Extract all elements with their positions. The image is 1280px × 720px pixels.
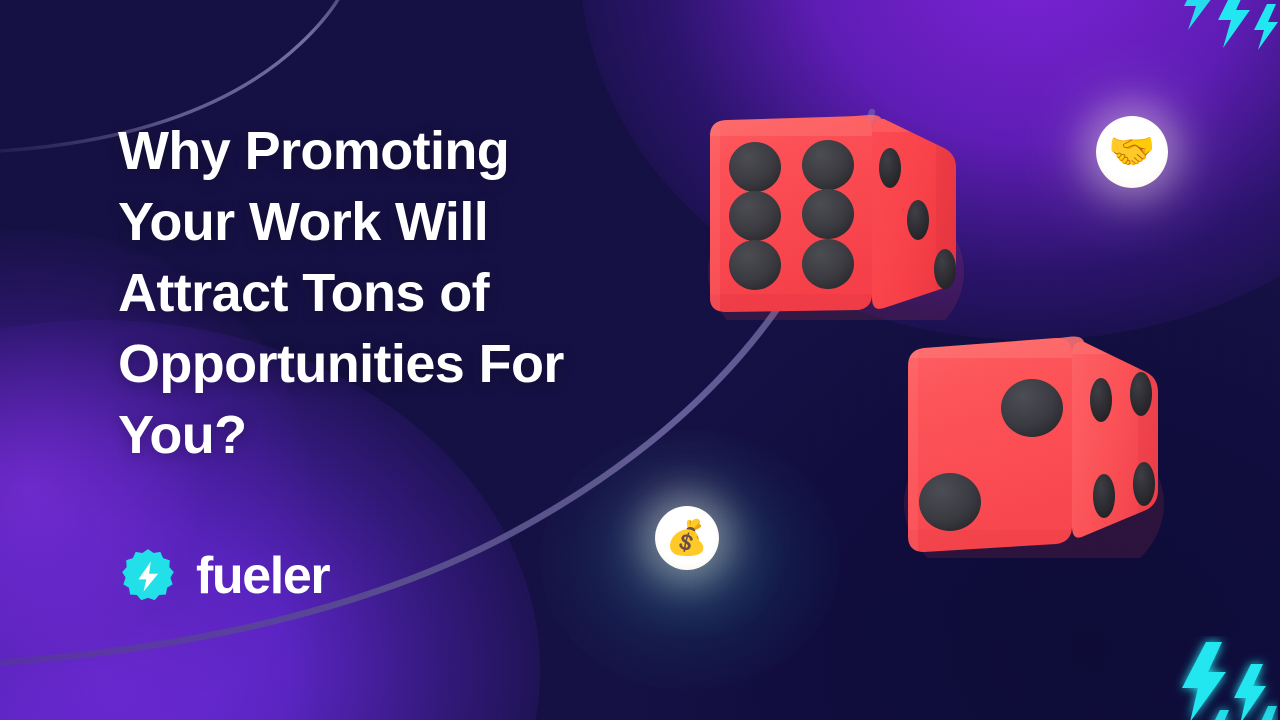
headline-line-2: Your Work Will xyxy=(118,187,698,258)
fueler-logo[interactable]: fueler xyxy=(120,548,329,604)
dice-icon xyxy=(898,332,1170,558)
money-bag-emoji: 💰 xyxy=(666,521,708,555)
banner-canvas: Why Promoting Your Work Will Attract Ton… xyxy=(0,0,1280,720)
headline-line-5: You? xyxy=(118,400,698,471)
money-bag-emoji-badge: 💰 xyxy=(655,506,719,570)
banner-headline: Why Promoting Your Work Will Attract Ton… xyxy=(118,116,698,471)
handshake-emoji: 🤝 xyxy=(1108,133,1155,171)
headline-line-4: Opportunities For xyxy=(118,329,698,400)
fueler-wordmark: fueler xyxy=(196,550,329,602)
headline-line-3: Attract Tons of xyxy=(118,258,698,329)
dice-icon xyxy=(700,112,972,320)
headline-line-1: Why Promoting xyxy=(118,116,698,187)
handshake-emoji-badge: 🤝 xyxy=(1096,116,1168,188)
lightning-bolt-badge-icon xyxy=(120,548,176,604)
